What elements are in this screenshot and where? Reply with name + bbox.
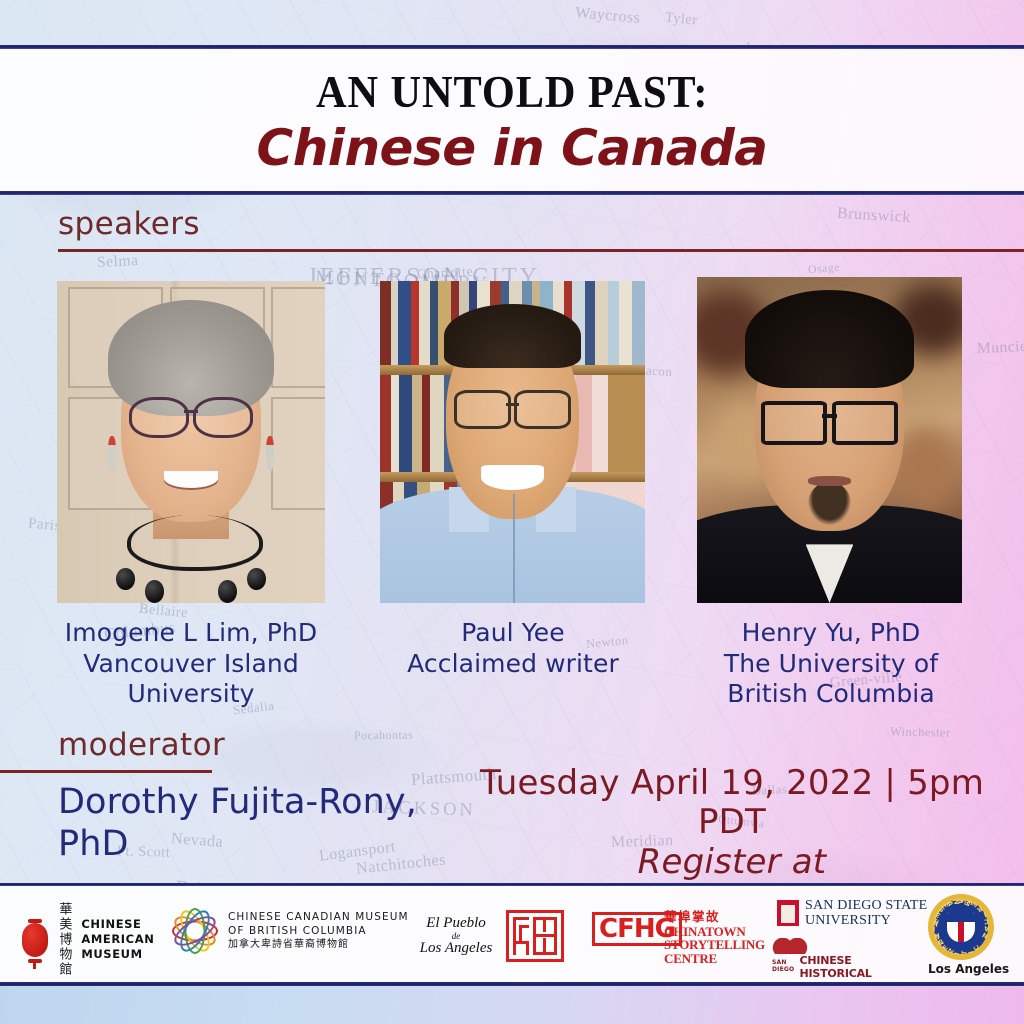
lssc-seal-icon (506, 910, 564, 962)
ccmbc-sphere-icon (172, 908, 218, 954)
bottom-map-band (0, 986, 1024, 1024)
title-bottom-rule (0, 191, 1024, 195)
sponsor-logo-strip: 華美博物館 CHINESE AMERICAN MUSEUM CHINESE CA… (0, 886, 1024, 982)
title-band: AN UNTOLD PAST: Chinese in Canada (0, 49, 1024, 194)
cam-line2: AMERICAN (81, 932, 154, 947)
ccmbc-line1: CHINESE CANADIAN MUSEUM (228, 910, 409, 924)
csc-line2: STORYTELLING (664, 938, 765, 951)
logo-el-pueblo: El Pueblo de Los Angeles (416, 916, 496, 957)
speaker-affiliation-2-line1: The University of (680, 649, 982, 680)
logo-caca: CHINESE AMERICANCITIZENS ALLIANCE Los An… (928, 894, 1009, 976)
logo-san-diego-state-university: SAN DIEGO STATE UNIVERSITY (777, 898, 927, 928)
moderator-name-line1: Dorothy Fujita-Rony, (58, 781, 458, 823)
speaker-photo-1 (380, 281, 645, 603)
speaker-affiliation-2-line2: British Columbia (680, 679, 982, 710)
sdsu-tower-icon (777, 900, 799, 926)
sdchm-lion-icon (772, 938, 808, 954)
speaker-affiliation-0-line2: University (40, 679, 342, 710)
speaker-photo-2 (697, 277, 962, 603)
speakers-label: speakers (58, 206, 200, 242)
ccmbc-line2: OF BRITISH COLUMBIA (228, 924, 409, 938)
moderator-label: moderator (58, 727, 225, 763)
sdsu-line1: SAN DIEGO STATE (805, 898, 927, 913)
speaker-affiliation-1-line1: Acclaimed writer (362, 649, 664, 680)
speaker-caption-1: Paul Yee Acclaimed writer (362, 618, 664, 679)
csc-line3: CENTRE (664, 952, 765, 965)
caca-chapter: Los Angeles (928, 962, 1009, 976)
csc-cjk: 華埠掌故 (664, 906, 765, 925)
elpueblo-line3: Los Angeles (416, 941, 496, 957)
speaker-name-0: Imogene L Lim, PhD (40, 618, 342, 649)
speaker-affiliation-0-line1: Vancouver Island (40, 649, 342, 680)
moderator-name-line2: PhD (58, 823, 458, 865)
logo-chinatown-storytelling-centre: 華埠掌故 CHINATOWN STORYTELLING CENTRE (664, 906, 765, 965)
poster-root: Council BluffsOttumwaPlattsmouthFort Mad… (0, 0, 1024, 1024)
sdchm-small: SAN DIEGO (772, 959, 797, 973)
cam-cjk: 華美博物館 (56, 902, 71, 977)
page-title-primary: AN UNTOLD PAST: (316, 69, 708, 115)
sdsu-line2: UNIVERSITY (805, 913, 927, 928)
speakers-divider (58, 249, 1024, 252)
speaker-photo-0 (57, 281, 325, 603)
caca-seal-icon: CHINESE AMERICANCITIZENS ALLIANCE (928, 894, 994, 960)
ccmbc-cjk: 加拿大卑詩省華裔博物館 (228, 938, 409, 952)
event-datetime: Tuesday April 19, 2022 | 5pm PDT (452, 764, 1012, 843)
speaker-name-1: Paul Yee (362, 618, 664, 649)
moderator-name: Dorothy Fujita-Rony, PhD (58, 781, 458, 865)
speaker-caption-0: Imogene L Lim, PhD Vancouver Island Univ… (40, 618, 342, 710)
logo-chinese-american-museum: 華美博物館 CHINESE AMERICAN MUSEUM (22, 902, 154, 977)
moderator-divider (0, 770, 212, 773)
elpueblo-line1: El Pueblo (416, 916, 496, 932)
page-title-secondary: Chinese in Canada (257, 121, 768, 175)
logo-lssc-seal (506, 910, 564, 962)
cam-line3: MUSEUM (81, 947, 154, 962)
cam-line1: CHINESE (81, 917, 154, 932)
speaker-caption-2: Henry Yu, PhD The University of British … (680, 618, 982, 710)
logo-chinese-canadian-museum-bc: CHINESE CANADIAN MUSEUM OF BRITISH COLUM… (172, 908, 409, 954)
csc-line1: CHINATOWN (664, 925, 765, 938)
speaker-name-2: Henry Yu, PhD (680, 618, 982, 649)
lantern-icon (22, 923, 48, 957)
